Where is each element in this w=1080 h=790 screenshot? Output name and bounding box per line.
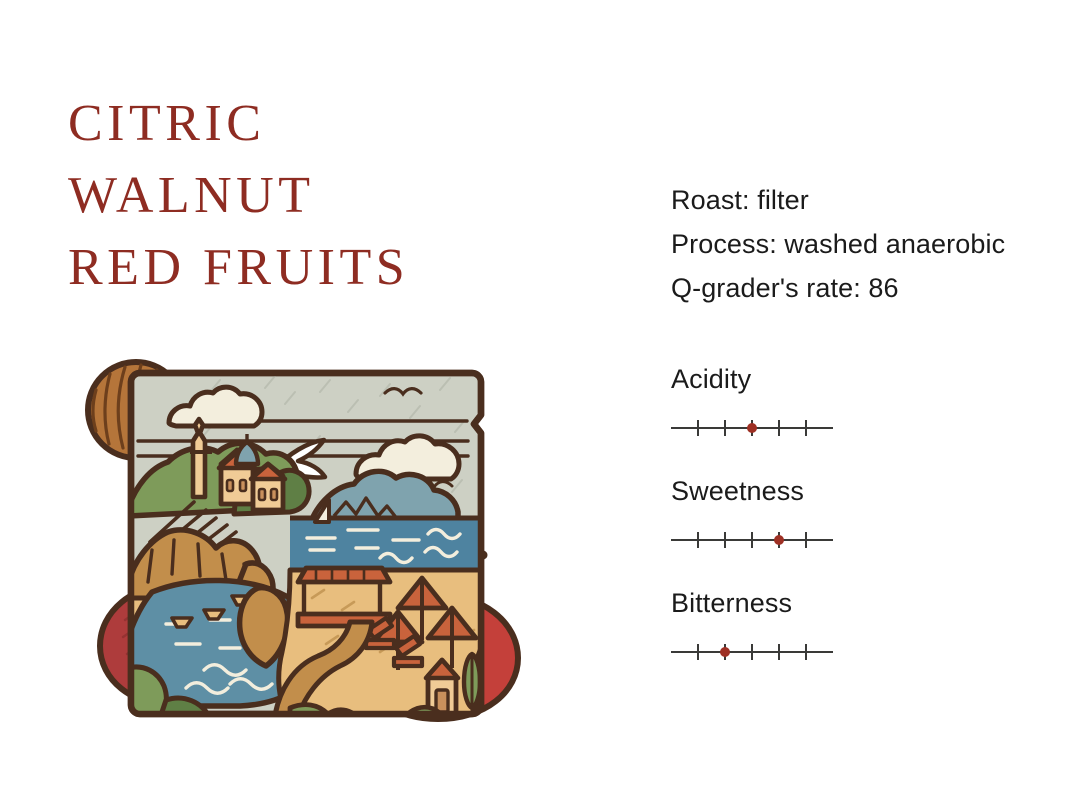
spec-roast: Roast: filter <box>671 178 1061 222</box>
scale-tick-5[interactable] <box>805 532 807 548</box>
coffee-spec-list: Roast: filter Process: washed anaerobic … <box>671 178 1061 310</box>
scale-tick-3[interactable] <box>751 644 753 660</box>
attribute-acidity: Acidity <box>671 363 1061 439</box>
flavour-notes-title: CITRIC WALNUT RED FRUITS <box>68 88 628 304</box>
spec-qgrader-rate: Q-grader's rate: 86 <box>671 266 1061 310</box>
scale-tick-5[interactable] <box>805 644 807 660</box>
attribute-label: Sweetness <box>671 475 1061 507</box>
flavour-line-3: RED FRUITS <box>68 232 628 304</box>
taste-attribute-scales: AciditySweetnessBitterness <box>671 363 1061 699</box>
scale-value-dot[interactable] <box>720 647 730 657</box>
scale-tick-4[interactable] <box>778 420 780 436</box>
spec-process: Process: washed anaerobic <box>671 222 1061 266</box>
attribute-sweetness: Sweetness <box>671 475 1061 551</box>
scale-tick-1[interactable] <box>697 644 699 660</box>
coffee-bag-illustration <box>80 352 550 737</box>
scale-tick-1[interactable] <box>697 532 699 548</box>
attribute-label: Acidity <box>671 363 1061 395</box>
minaret-tower <box>193 419 205 497</box>
scale-tick-4[interactable] <box>778 644 780 660</box>
attribute-scale-track[interactable] <box>671 417 833 439</box>
scale-value-dot[interactable] <box>747 423 757 433</box>
attribute-label: Bitterness <box>671 587 1061 619</box>
flavour-line-2: WALNUT <box>68 160 628 232</box>
scale-tick-2[interactable] <box>724 420 726 436</box>
coffee-bag <box>104 373 530 736</box>
scale-tick-3[interactable] <box>751 532 753 548</box>
scale-tick-1[interactable] <box>697 420 699 436</box>
scale-tick-5[interactable] <box>805 420 807 436</box>
scale-tick-2[interactable] <box>724 532 726 548</box>
attribute-scale-track[interactable] <box>671 529 833 551</box>
attribute-bitterness: Bitterness <box>671 587 1061 663</box>
flavour-line-1: CITRIC <box>68 88 628 160</box>
beach-bushes <box>290 705 360 736</box>
attribute-scale-track[interactable] <box>671 641 833 663</box>
scale-value-dot[interactable] <box>774 535 784 545</box>
